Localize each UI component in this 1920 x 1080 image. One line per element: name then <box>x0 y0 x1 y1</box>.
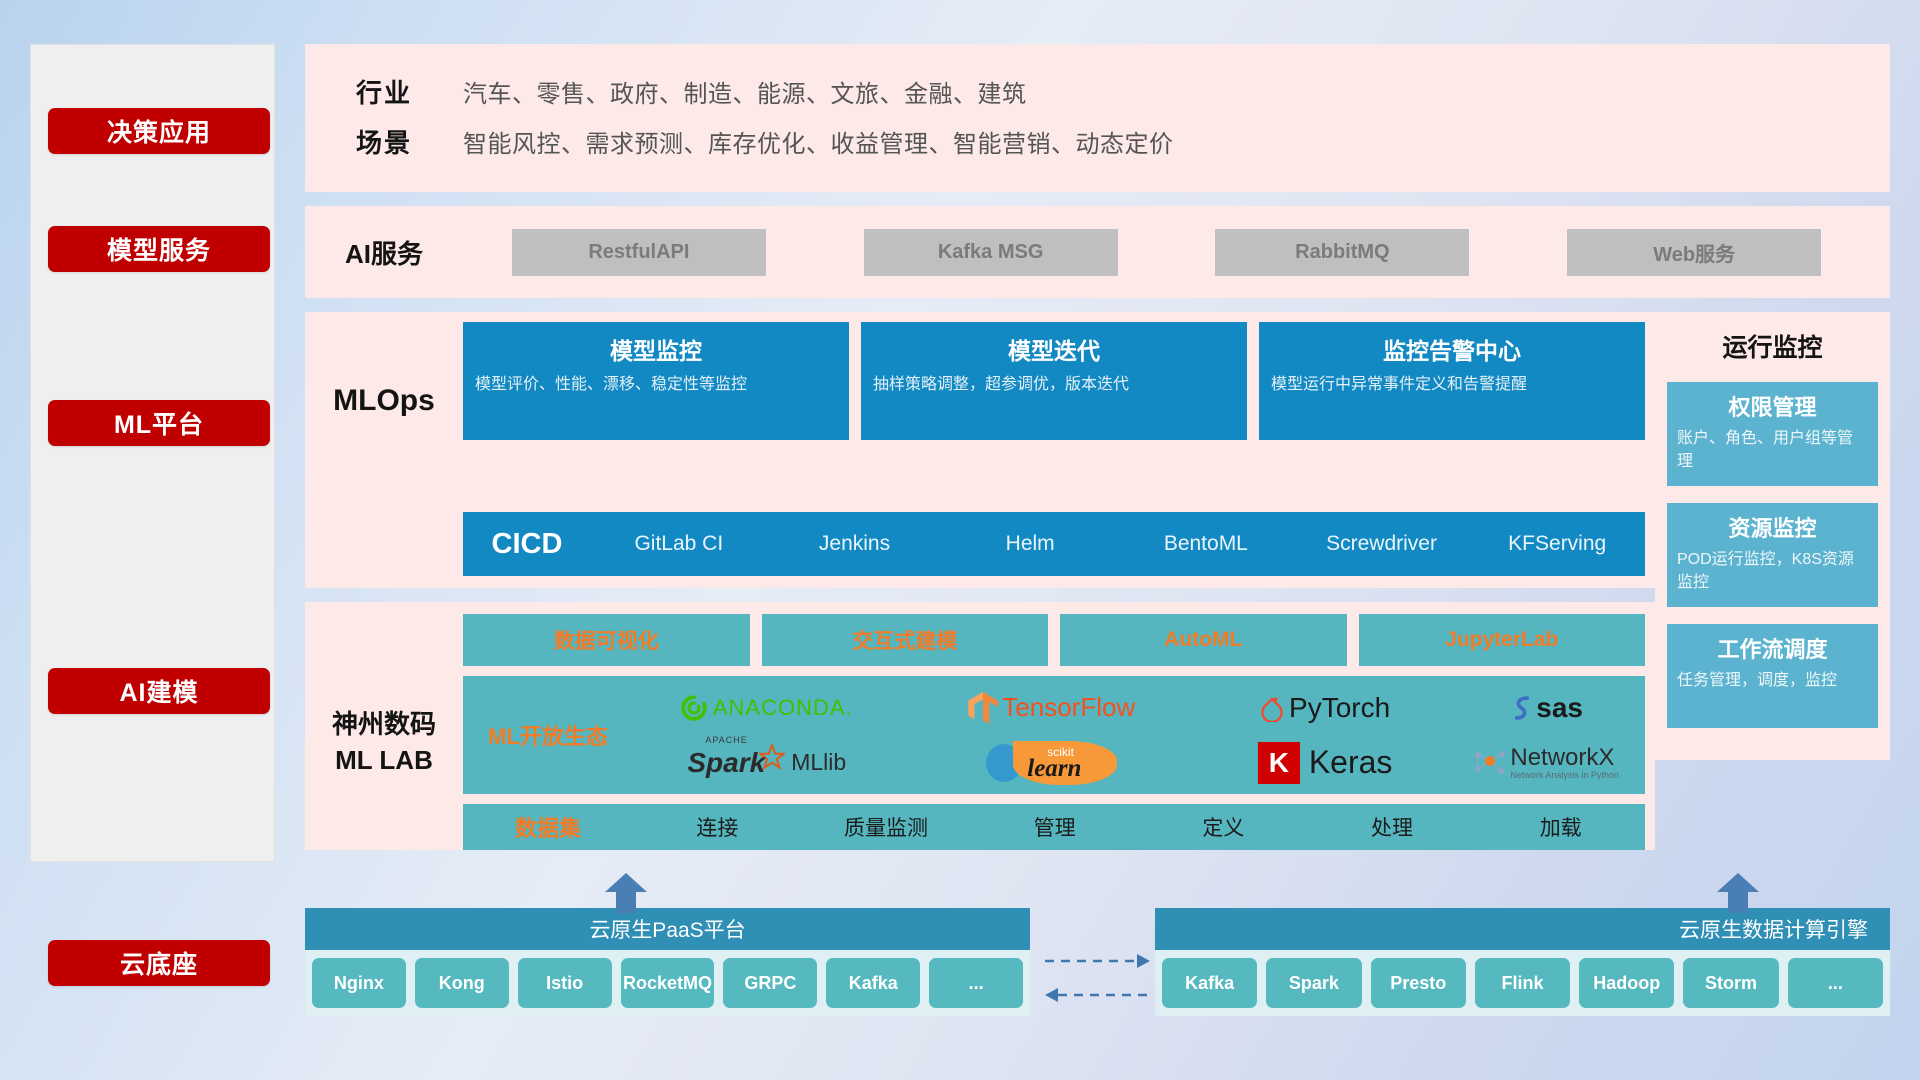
monitor-card-title: 资源监控 <box>1677 511 1868 543</box>
mlops-card-desc: 抽样策略调整，超参调优，版本迭代 <box>873 374 1235 396</box>
tensorflow-wordmark: TensorFlow <box>1002 692 1135 723</box>
cloud-foundation-section: 云原生PaaS平台 Nginx Kong Istio RocketMQ GRPC… <box>305 880 1890 1055</box>
industry-label: 行业 <box>305 73 463 110</box>
monitor-card-title: 工作流调度 <box>1677 632 1868 664</box>
dataset-item-load[interactable]: 加载 <box>1476 812 1645 842</box>
keras-mark: K <box>1258 742 1300 784</box>
pytorch-wordmark: PyTorch <box>1289 692 1390 724</box>
industry-value: 汽车、零售、政府、制造、能源、文旅、金融、建筑 <box>463 74 1027 109</box>
chip-spark[interactable]: Spark <box>1266 958 1361 1008</box>
monitor-card-desc: 账户、角色、用户组等管理 <box>1677 427 1868 473</box>
tab-automl[interactable]: AutoML <box>1060 614 1347 666</box>
networkx-wordmark: NetworkX <box>1510 746 1619 770</box>
cicd-band: CICD GitLab CI Jenkins Helm BentoML Scre… <box>305 512 1655 588</box>
stage-column <box>30 44 275 862</box>
chip-kafka[interactable]: Kafka <box>826 958 920 1008</box>
scikit-learn-icon: scikit learn <box>901 741 1203 785</box>
ai-service-rabbitmq[interactable]: RabbitMQ <box>1215 229 1469 276</box>
cicd-item-bentoml[interactable]: BentoML <box>1118 529 1294 559</box>
chip-kong[interactable]: Kong <box>415 958 509 1008</box>
chip-nginx[interactable]: Nginx <box>312 958 406 1008</box>
chip-rocketmq[interactable]: RocketMQ <box>621 958 715 1008</box>
industry-row: 行业 汽车、零售、政府、制造、能源、文旅、金融、建筑 <box>305 66 1890 116</box>
mlops-band: MLOps 模型监控 模型评价、性能、漂移、稳定性等监控 模型迭代 抽样策略调整… <box>305 312 1655 512</box>
chip-data-more[interactable]: ... <box>1788 958 1883 1008</box>
up-arrow-paas-icon <box>603 873 649 913</box>
mlops-card-desc: 模型评价、性能、漂移、稳定性等监控 <box>475 374 837 396</box>
monitor-card-resource[interactable]: 资源监控 POD运行监控，K8S资源监控 <box>1667 503 1878 607</box>
dataset-item-define[interactable]: 定义 <box>1139 812 1308 842</box>
mlops-card-title: 模型迭代 <box>873 332 1235 366</box>
monitor-card-workflow[interactable]: 工作流调度 任务管理，调度，监控 <box>1667 624 1878 728</box>
mid-right-column: 运行监控 权限管理 账户、角色、用户组等管理 资源监控 POD运行监控，K8S资… <box>1655 312 1890 850</box>
ai-service-kafka-msg[interactable]: Kafka MSG <box>864 229 1118 276</box>
mlops-cards: 模型监控 模型评价、性能、漂移、稳定性等监控 模型迭代 抽样策略调整，超参调优，… <box>463 322 1655 440</box>
monitor-card-desc: 任务管理，调度，监控 <box>1677 669 1868 692</box>
stage-badge-cloud-foundation[interactable]: 云底座 <box>48 940 270 986</box>
spark-mllib-icon: APACHE Spark MLlib <box>633 747 901 779</box>
cicd-item-kfserving[interactable]: KFServing <box>1469 529 1645 559</box>
cicd-item-helm[interactable]: Helm <box>942 529 1118 559</box>
stage-badge-ml-platform[interactable]: ML平台 <box>48 400 270 446</box>
mlops-card-model-monitor[interactable]: 模型监控 模型评价、性能、漂移、稳定性等监控 <box>463 322 849 440</box>
stage-badge-model-service[interactable]: 模型服务 <box>48 226 270 272</box>
pytorch-icon: PyTorch <box>1203 692 1447 724</box>
monitor-card-desc: POD运行监控，K8S资源监控 <box>1677 548 1868 594</box>
mlops-card-model-iteration[interactable]: 模型迭代 抽样策略调整，超参调优，版本迭代 <box>861 322 1247 440</box>
ml-lab-label: 神州数码 ML LAB <box>305 614 463 850</box>
ai-service-label: AI服务 <box>305 234 463 271</box>
mllib-wordmark: MLlib <box>791 749 846 776</box>
ai-service-items: RestfulAPI Kafka MSG RabbitMQ Web服务 <box>463 229 1890 276</box>
ai-service-band: AI服务 RestfulAPI Kafka MSG RabbitMQ Web服务 <box>305 206 1890 298</box>
industry-scenario-band: 行业 汽车、零售、政府、制造、能源、文旅、金融、建筑 场景 智能风控、需求预测、… <box>305 44 1890 192</box>
ml-lab-body: 数据可视化 交互式建模 AutoML JupyterLab ML开放生态 <box>463 614 1655 850</box>
mlops-label: MLOps <box>305 322 463 418</box>
chip-storm[interactable]: Storm <box>1683 958 1778 1008</box>
chip-paas-more[interactable]: ... <box>929 958 1023 1008</box>
runtime-monitor-title: 运行监控 <box>1667 328 1878 364</box>
cloud-data-engine-title: 云原生数据计算引擎 <box>1155 908 1890 950</box>
bidirectional-link-arrows-icon <box>1045 948 1150 1008</box>
ml-lab-label-line2: ML LAB <box>305 742 463 778</box>
learn-label: learn <box>1027 755 1081 783</box>
stage-badge-decision-app[interactable]: 决策应用 <box>48 108 270 154</box>
mlops-card-alert-center[interactable]: 监控告警中心 模型运行中异常事件定义和告警提醒 <box>1259 322 1645 440</box>
mlops-card-desc: 模型运行中异常事件定义和告警提醒 <box>1271 374 1633 396</box>
mlops-card-title: 模型监控 <box>475 332 837 366</box>
ml-ecosystem-label: ML开放生态 <box>463 719 633 751</box>
sas-icon: sas <box>1447 692 1645 724</box>
ml-lab-band: 神州数码 ML LAB 数据可视化 交互式建模 AutoML JupyterLa… <box>305 602 1655 850</box>
ai-service-web[interactable]: Web服务 <box>1567 229 1821 276</box>
cicd-item-screwdriver[interactable]: Screwdriver <box>1294 529 1470 559</box>
cloud-data-engine-group: 云原生数据计算引擎 Kafka Spark Presto Flink Hadoo… <box>1155 908 1890 1016</box>
tensorflow-icon: TensorFlow <box>901 692 1203 724</box>
mid-section: MLOps 模型监控 模型评价、性能、漂移、稳定性等监控 模型迭代 抽样策略调整… <box>305 312 1890 850</box>
cloud-paas-title: 云原生PaaS平台 <box>305 908 1030 950</box>
mlops-card-title: 监控告警中心 <box>1271 332 1633 366</box>
ai-service-restfulapi[interactable]: RestfulAPI <box>512 229 766 276</box>
sas-wordmark: sas <box>1536 692 1583 724</box>
keras-wordmark: Keras <box>1309 744 1393 781</box>
scenario-value: 智能风控、需求预测、库存优化、收益管理、智能营销、动态定价 <box>463 124 1174 159</box>
dataset-item-connect[interactable]: 连接 <box>633 812 802 842</box>
chip-istio[interactable]: Istio <box>518 958 612 1008</box>
dataset-label: 数据集 <box>463 811 633 843</box>
networkx-tagline: Network Analysis in Python <box>1510 770 1619 780</box>
architecture-main: 行业 汽车、零售、政府、制造、能源、文旅、金融、建筑 场景 智能风控、需求预测、… <box>305 44 1890 850</box>
cloud-data-engine-chips: Kafka Spark Presto Flink Hadoop Storm ..… <box>1155 950 1890 1016</box>
ml-ecosystem-logo-row-2: APACHE Spark MLlib <box>633 735 1645 790</box>
tab-data-visualization[interactable]: 数据可视化 <box>463 614 750 666</box>
anaconda-wordmark: ANACONDA. <box>713 695 853 721</box>
scenario-label: 场景 <box>305 123 463 160</box>
chip-flink[interactable]: Flink <box>1475 958 1570 1008</box>
tab-interactive-modeling[interactable]: 交互式建模 <box>762 614 1049 666</box>
chip-presto[interactable]: Presto <box>1371 958 1466 1008</box>
tab-jupyterlab[interactable]: JupyterLab <box>1359 614 1646 666</box>
spark-apache-label: APACHE <box>705 735 747 745</box>
dataset-item-manage[interactable]: 管理 <box>970 812 1139 842</box>
ml-ecosystem-logo-row-1: ANACONDA. TensorFlow <box>633 680 1645 735</box>
chip-grpc[interactable]: GRPC <box>723 958 817 1008</box>
ml-ecosystem-row: ML开放生态 ANACONDA. <box>463 676 1645 794</box>
cicd-item-gitlab-ci[interactable]: GitLab CI <box>591 529 767 559</box>
monitor-card-permission[interactable]: 权限管理 账户、角色、用户组等管理 <box>1667 382 1878 486</box>
ml-ecosystem-logos: ANACONDA. TensorFlow <box>633 680 1645 790</box>
dataset-item-process[interactable]: 处理 <box>1308 812 1477 842</box>
stage-badge-ai-modeling[interactable]: AI建模 <box>48 668 270 714</box>
runtime-monitor-panel: 运行监控 权限管理 账户、角色、用户组等管理 资源监控 POD运行监控，K8S资… <box>1655 312 1890 760</box>
anaconda-icon: ANACONDA. <box>633 695 901 721</box>
cicd-title: CICD <box>463 528 591 561</box>
cloud-paas-group: 云原生PaaS平台 Nginx Kong Istio RocketMQ GRPC… <box>305 908 1030 1016</box>
monitor-card-title: 权限管理 <box>1677 390 1868 422</box>
ml-lab-tabs: 数据可视化 交互式建模 AutoML JupyterLab <box>463 614 1645 666</box>
dataset-row: 数据集 连接 质量监测 管理 定义 处理 加载 <box>463 804 1645 850</box>
keras-icon: K Keras <box>1203 742 1447 784</box>
chip-kafka-data[interactable]: Kafka <box>1162 958 1257 1008</box>
cicd-row: CICD GitLab CI Jenkins Helm BentoML Scre… <box>463 512 1645 576</box>
up-arrow-data-engine-icon <box>1715 873 1761 913</box>
ml-lab-label-line1: 神州数码 <box>305 706 463 742</box>
spark-wordmark: Spark <box>687 747 765 778</box>
mid-left-column: MLOps 模型监控 模型评价、性能、漂移、稳定性等监控 模型迭代 抽样策略调整… <box>305 312 1655 850</box>
chip-hadoop[interactable]: Hadoop <box>1579 958 1674 1008</box>
cloud-paas-chips: Nginx Kong Istio RocketMQ GRPC Kafka ... <box>305 950 1030 1016</box>
dataset-item-quality-monitor[interactable]: 质量监测 <box>802 812 971 842</box>
scenario-row: 场景 智能风控、需求预测、库存优化、收益管理、智能营销、动态定价 <box>305 116 1890 166</box>
cicd-item-jenkins[interactable]: Jenkins <box>767 529 943 559</box>
networkx-icon: NetworkX Network Analysis in Python <box>1447 746 1645 780</box>
